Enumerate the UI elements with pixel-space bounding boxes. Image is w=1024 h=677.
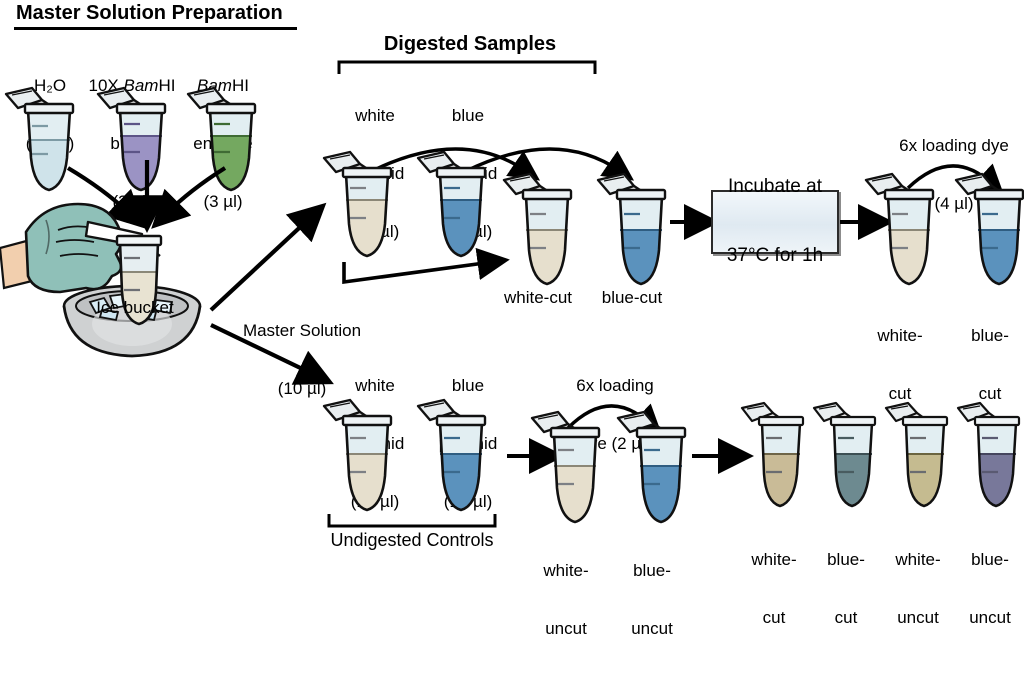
undig-blue-l1: blue bbox=[418, 376, 518, 395]
tube-white-uncut[interactable] bbox=[528, 410, 602, 528]
wcd-l2: cut bbox=[856, 384, 944, 403]
label-white-uncut: white- uncut bbox=[522, 523, 610, 677]
tube-undigested-white-plasmid[interactable] bbox=[320, 398, 394, 516]
arrow-to-incubate bbox=[668, 208, 713, 236]
f1-l1: blue- bbox=[808, 550, 884, 569]
digested-samples-header: Digested Samples bbox=[340, 33, 600, 56]
page-title-text: Master Solution Preparation bbox=[14, 2, 297, 27]
undig-white-l1: white bbox=[325, 376, 425, 395]
bu-l2: uncut bbox=[608, 619, 696, 638]
incubate-line2: 37°C for 1h bbox=[727, 245, 823, 268]
f0-l2: cut bbox=[736, 608, 812, 627]
tube-blue-uncut[interactable] bbox=[614, 410, 688, 528]
ice-bucket-label: Ice bucket bbox=[75, 298, 195, 317]
tube-blue-cut[interactable] bbox=[594, 172, 668, 290]
tube-digested-white-plasmid[interactable] bbox=[320, 150, 394, 262]
tube-blue-cut-dyed[interactable] bbox=[952, 172, 1024, 290]
tube-white-cut-dyed[interactable] bbox=[862, 172, 936, 290]
page-title: Master Solution Preparation bbox=[14, 2, 297, 30]
tube-digested-blue-plasmid[interactable] bbox=[414, 150, 488, 262]
tube-final-white-uncut[interactable] bbox=[884, 402, 950, 514]
diagram-canvas: Master Solution Preparation H₂O (24 µl) … bbox=[0, 0, 1024, 559]
wu-l2: uncut bbox=[522, 619, 610, 638]
bcd-l1: blue- bbox=[946, 326, 1024, 345]
label-blue-uncut: blue- uncut bbox=[608, 523, 696, 677]
tube-final-white-cut[interactable] bbox=[740, 402, 806, 514]
label-final-white-uncut: white- uncut bbox=[880, 512, 956, 666]
f1-l2: cut bbox=[808, 608, 884, 627]
tube-undigested-blue-plasmid[interactable] bbox=[414, 398, 488, 516]
label-white-cut: white-cut bbox=[492, 288, 584, 307]
f3-l2: uncut bbox=[952, 608, 1024, 627]
label-final-white-cut: white- cut bbox=[736, 512, 812, 666]
digested-white-l1: white bbox=[325, 106, 425, 125]
digested-blue-l1: blue bbox=[418, 106, 518, 125]
title-underline bbox=[14, 27, 297, 30]
tube-final-blue-cut[interactable] bbox=[812, 402, 878, 514]
wcd-l1: white- bbox=[856, 326, 944, 345]
label-final-blue-cut: blue- cut bbox=[808, 512, 884, 666]
undigested-controls-bracket bbox=[326, 512, 498, 528]
f2-l2: uncut bbox=[880, 608, 956, 627]
wu-l1: white- bbox=[522, 561, 610, 580]
f0-l1: white- bbox=[736, 550, 812, 569]
bcd-l2: cut bbox=[946, 384, 1024, 403]
bu-l1: blue- bbox=[608, 561, 696, 580]
label-blue-cut: blue-cut bbox=[586, 288, 678, 307]
tube-white-cut[interactable] bbox=[500, 172, 574, 290]
f3-l1: blue- bbox=[952, 550, 1024, 569]
f2-l1: white- bbox=[880, 550, 956, 569]
tube-final-blue-uncut[interactable] bbox=[956, 402, 1022, 514]
incubate-line1: Incubate at bbox=[727, 176, 823, 199]
label-final-blue-uncut: blue- uncut bbox=[952, 512, 1024, 666]
undigested-controls-header: Undigested Controls bbox=[322, 530, 502, 550]
incubate-step-box[interactable]: Incubate at 37°C for 1h bbox=[711, 190, 839, 254]
